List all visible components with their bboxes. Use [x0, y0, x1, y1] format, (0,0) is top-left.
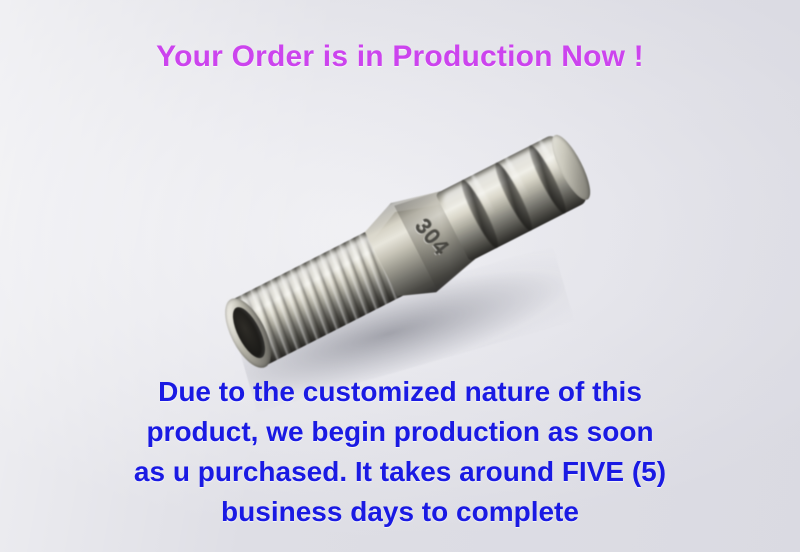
body-copy-line-2: product, we begin production as soon	[0, 412, 800, 452]
headline-text: Your Order is in Production Now !	[0, 40, 800, 74]
body-copy-line-1: Due to the customized nature of this	[0, 372, 800, 412]
body-copy-line-4: business days to complete	[0, 492, 800, 532]
body-copy: Due to the customized nature of this pro…	[0, 372, 800, 532]
notice-banner: Your Order is in Production Now ! 304	[0, 0, 800, 552]
product-photo: 304	[180, 140, 640, 380]
body-copy-line-3: as u purchased. It takes around FIVE (5)	[0, 452, 800, 492]
